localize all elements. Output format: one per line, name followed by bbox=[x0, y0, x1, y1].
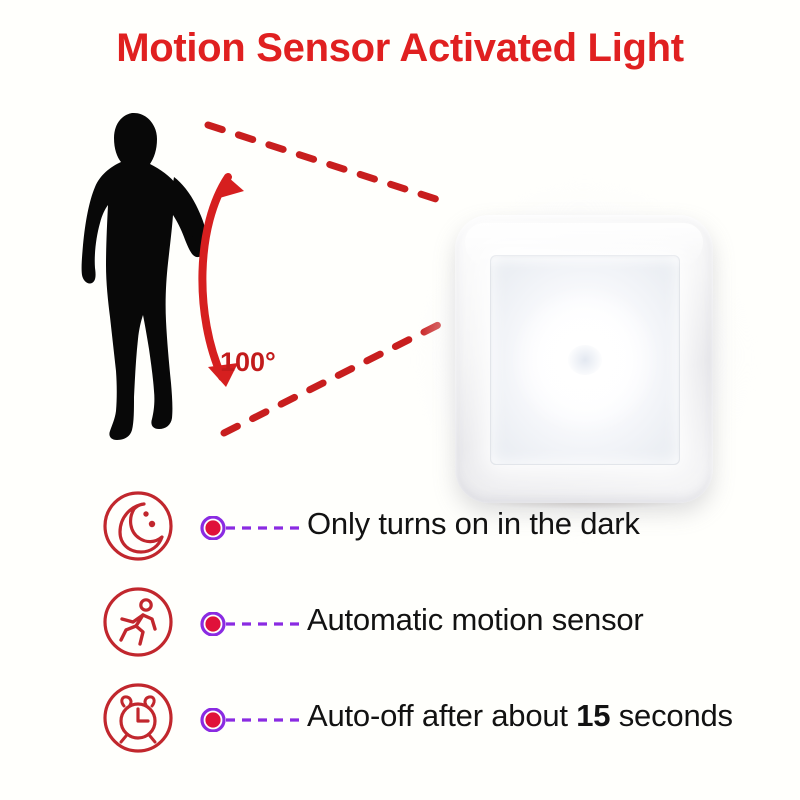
product-infographic: Motion Sensor Activated Light 100° bbox=[0, 0, 800, 800]
connector-line bbox=[200, 708, 304, 732]
moon-icon bbox=[100, 488, 176, 564]
connector-line bbox=[200, 612, 304, 636]
feature-label-highlight: 15 bbox=[576, 698, 610, 733]
cone-upper-dashed-line bbox=[208, 125, 442, 201]
light-diffuser-panel bbox=[490, 255, 680, 465]
feature-label: Automatic motion sensor bbox=[307, 602, 644, 638]
angle-label: 100° bbox=[220, 347, 276, 378]
feature-row: Only turns on in the dark bbox=[0, 478, 800, 574]
feature-label: Auto-off after about 15 seconds bbox=[307, 698, 733, 734]
feature-label: Only turns on in the dark bbox=[307, 506, 640, 542]
feature-list: Only turns on in the dark Automatic moti… bbox=[0, 478, 800, 766]
cone-lower-dashed-line bbox=[224, 323, 442, 433]
product-light bbox=[455, 215, 717, 507]
feature-label-text: Only turns on in the dark bbox=[307, 506, 640, 541]
feature-label-text: Automatic motion sensor bbox=[307, 602, 644, 637]
light-bezel bbox=[455, 215, 713, 503]
alarm-clock-icon bbox=[100, 680, 176, 756]
feature-row: Auto-off after about 15 seconds bbox=[0, 670, 800, 766]
feature-label-suffix: seconds bbox=[610, 698, 732, 733]
connector-line bbox=[200, 516, 304, 540]
hero-illustration: 100° bbox=[0, 95, 800, 455]
feature-row: Automatic motion sensor bbox=[0, 574, 800, 670]
feature-label-prefix: Auto-off after about bbox=[307, 698, 576, 733]
page-title: Motion Sensor Activated Light bbox=[0, 26, 800, 71]
running-person-icon bbox=[100, 584, 176, 660]
